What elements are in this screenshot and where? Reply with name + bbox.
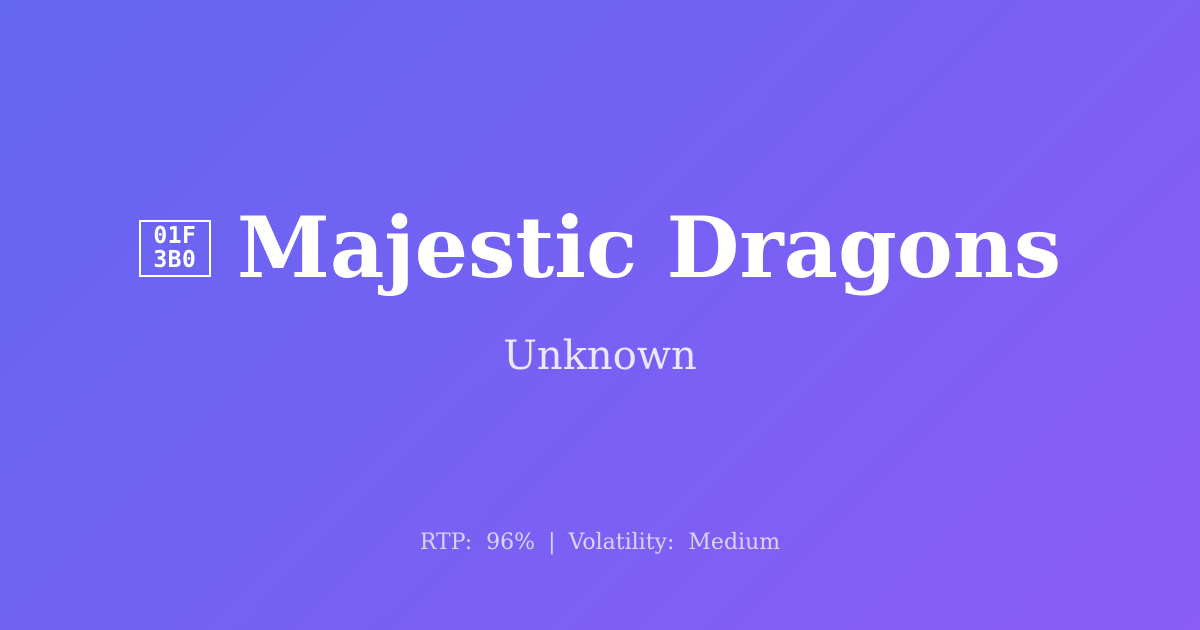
volatility-value: Medium [688,530,780,555]
game-share-card: 01F 3B0 Majestic Dragons Unknown RTP: 96… [0,0,1200,630]
game-meta-line: RTP: 96% | Volatility: Medium [0,530,1200,556]
meta-separator: | [542,530,561,555]
slot-machine-emoji-icon: 01F 3B0 [139,220,211,277]
title-row: 01F 3B0 Majestic Dragons [139,206,1061,290]
tofu-codepoint-top: 01F [153,224,196,248]
rtp-value: 96% [486,530,535,555]
page-title: Majestic Dragons [237,206,1061,290]
tofu-codepoint-bottom: 3B0 [153,248,196,272]
volatility-label: Volatility: [569,530,675,555]
rtp-label: RTP: [420,530,472,555]
provider-name: Unknown [503,336,697,376]
